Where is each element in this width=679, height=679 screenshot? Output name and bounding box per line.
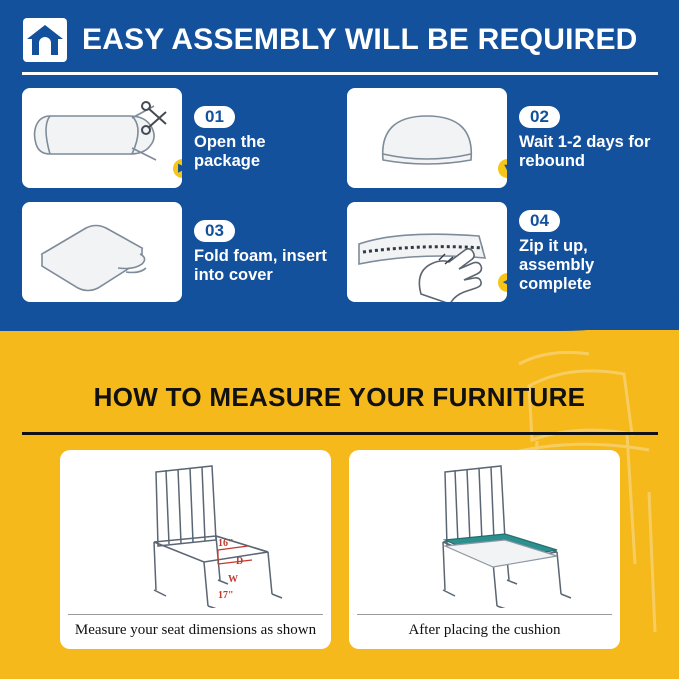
step-04-text: 04 Zip it up, assembly complete — [507, 202, 658, 302]
measure-cards: 16" D W 17" Measure your seat dimensions… — [60, 450, 620, 649]
step-02-text: 02 Wait 1-2 days for rebound — [507, 88, 658, 188]
measure-card-2-caption: After placing the cushion — [357, 614, 612, 639]
home-icon — [22, 17, 68, 63]
dimension-width-letter: W — [228, 574, 238, 585]
step-card-01: ▶ 01 Open the package — [22, 88, 333, 188]
step-01-label: Open the package — [194, 133, 333, 171]
step-01-number: 01 — [194, 106, 235, 128]
dimension-depth: 16" — [218, 538, 234, 549]
dimension-width: 17" — [218, 590, 234, 601]
steps-row-2: 03 Fold foam, insert into cover — [22, 202, 658, 302]
step-01-text: 01 Open the package — [182, 88, 333, 188]
step-card-04: ◀ 04 Zip it up, assembly complete — [347, 202, 658, 302]
step-02-label: Wait 1-2 days for rebound — [519, 133, 658, 171]
step-card-02: ▼ 02 Wait 1-2 days for rebound — [347, 88, 658, 188]
measure-card-1: 16" D W 17" Measure your seat dimensions… — [60, 450, 331, 649]
page-title: EASY ASSEMBLY WILL BE REQUIRED — [82, 23, 638, 57]
step-03-image — [22, 202, 182, 302]
step-04-label: Zip it up, assembly complete — [519, 237, 658, 294]
measure-title: HOW TO MEASURE YOUR FURNITURE — [0, 382, 679, 413]
cushion-on-seat — [445, 534, 557, 567]
step-04-image: ◀ — [347, 202, 507, 302]
measure-card-1-image: 16" D W 17" — [68, 458, 323, 608]
header: EASY ASSEMBLY WILL BE REQUIRED — [22, 14, 658, 66]
step-04-number: 04 — [519, 210, 560, 232]
measure-card-1-caption: Measure your seat dimensions as shown — [68, 614, 323, 639]
step-03-label: Fold foam, insert into cover — [194, 247, 333, 285]
dimension-thickness: D — [236, 556, 243, 567]
step-01-image: ▶ — [22, 88, 182, 188]
step-02-number: 02 — [519, 106, 560, 128]
header-divider — [22, 72, 658, 75]
steps-row-1: ▶ 01 Open the package ▼ — [22, 88, 658, 188]
steps-list: ▶ 01 Open the package ▼ — [22, 88, 658, 316]
step-03-number: 03 — [194, 220, 235, 242]
measure-divider — [22, 432, 658, 435]
measure-card-2-image — [357, 458, 612, 608]
step-card-03: 03 Fold foam, insert into cover — [22, 202, 333, 302]
measure-card-2: After placing the cushion — [349, 450, 620, 649]
step-02-image: ▼ — [347, 88, 507, 188]
step-03-text: 03 Fold foam, insert into cover — [182, 202, 333, 302]
infographic-page: EASY ASSEMBLY WILL BE REQUIRED — [0, 0, 679, 679]
